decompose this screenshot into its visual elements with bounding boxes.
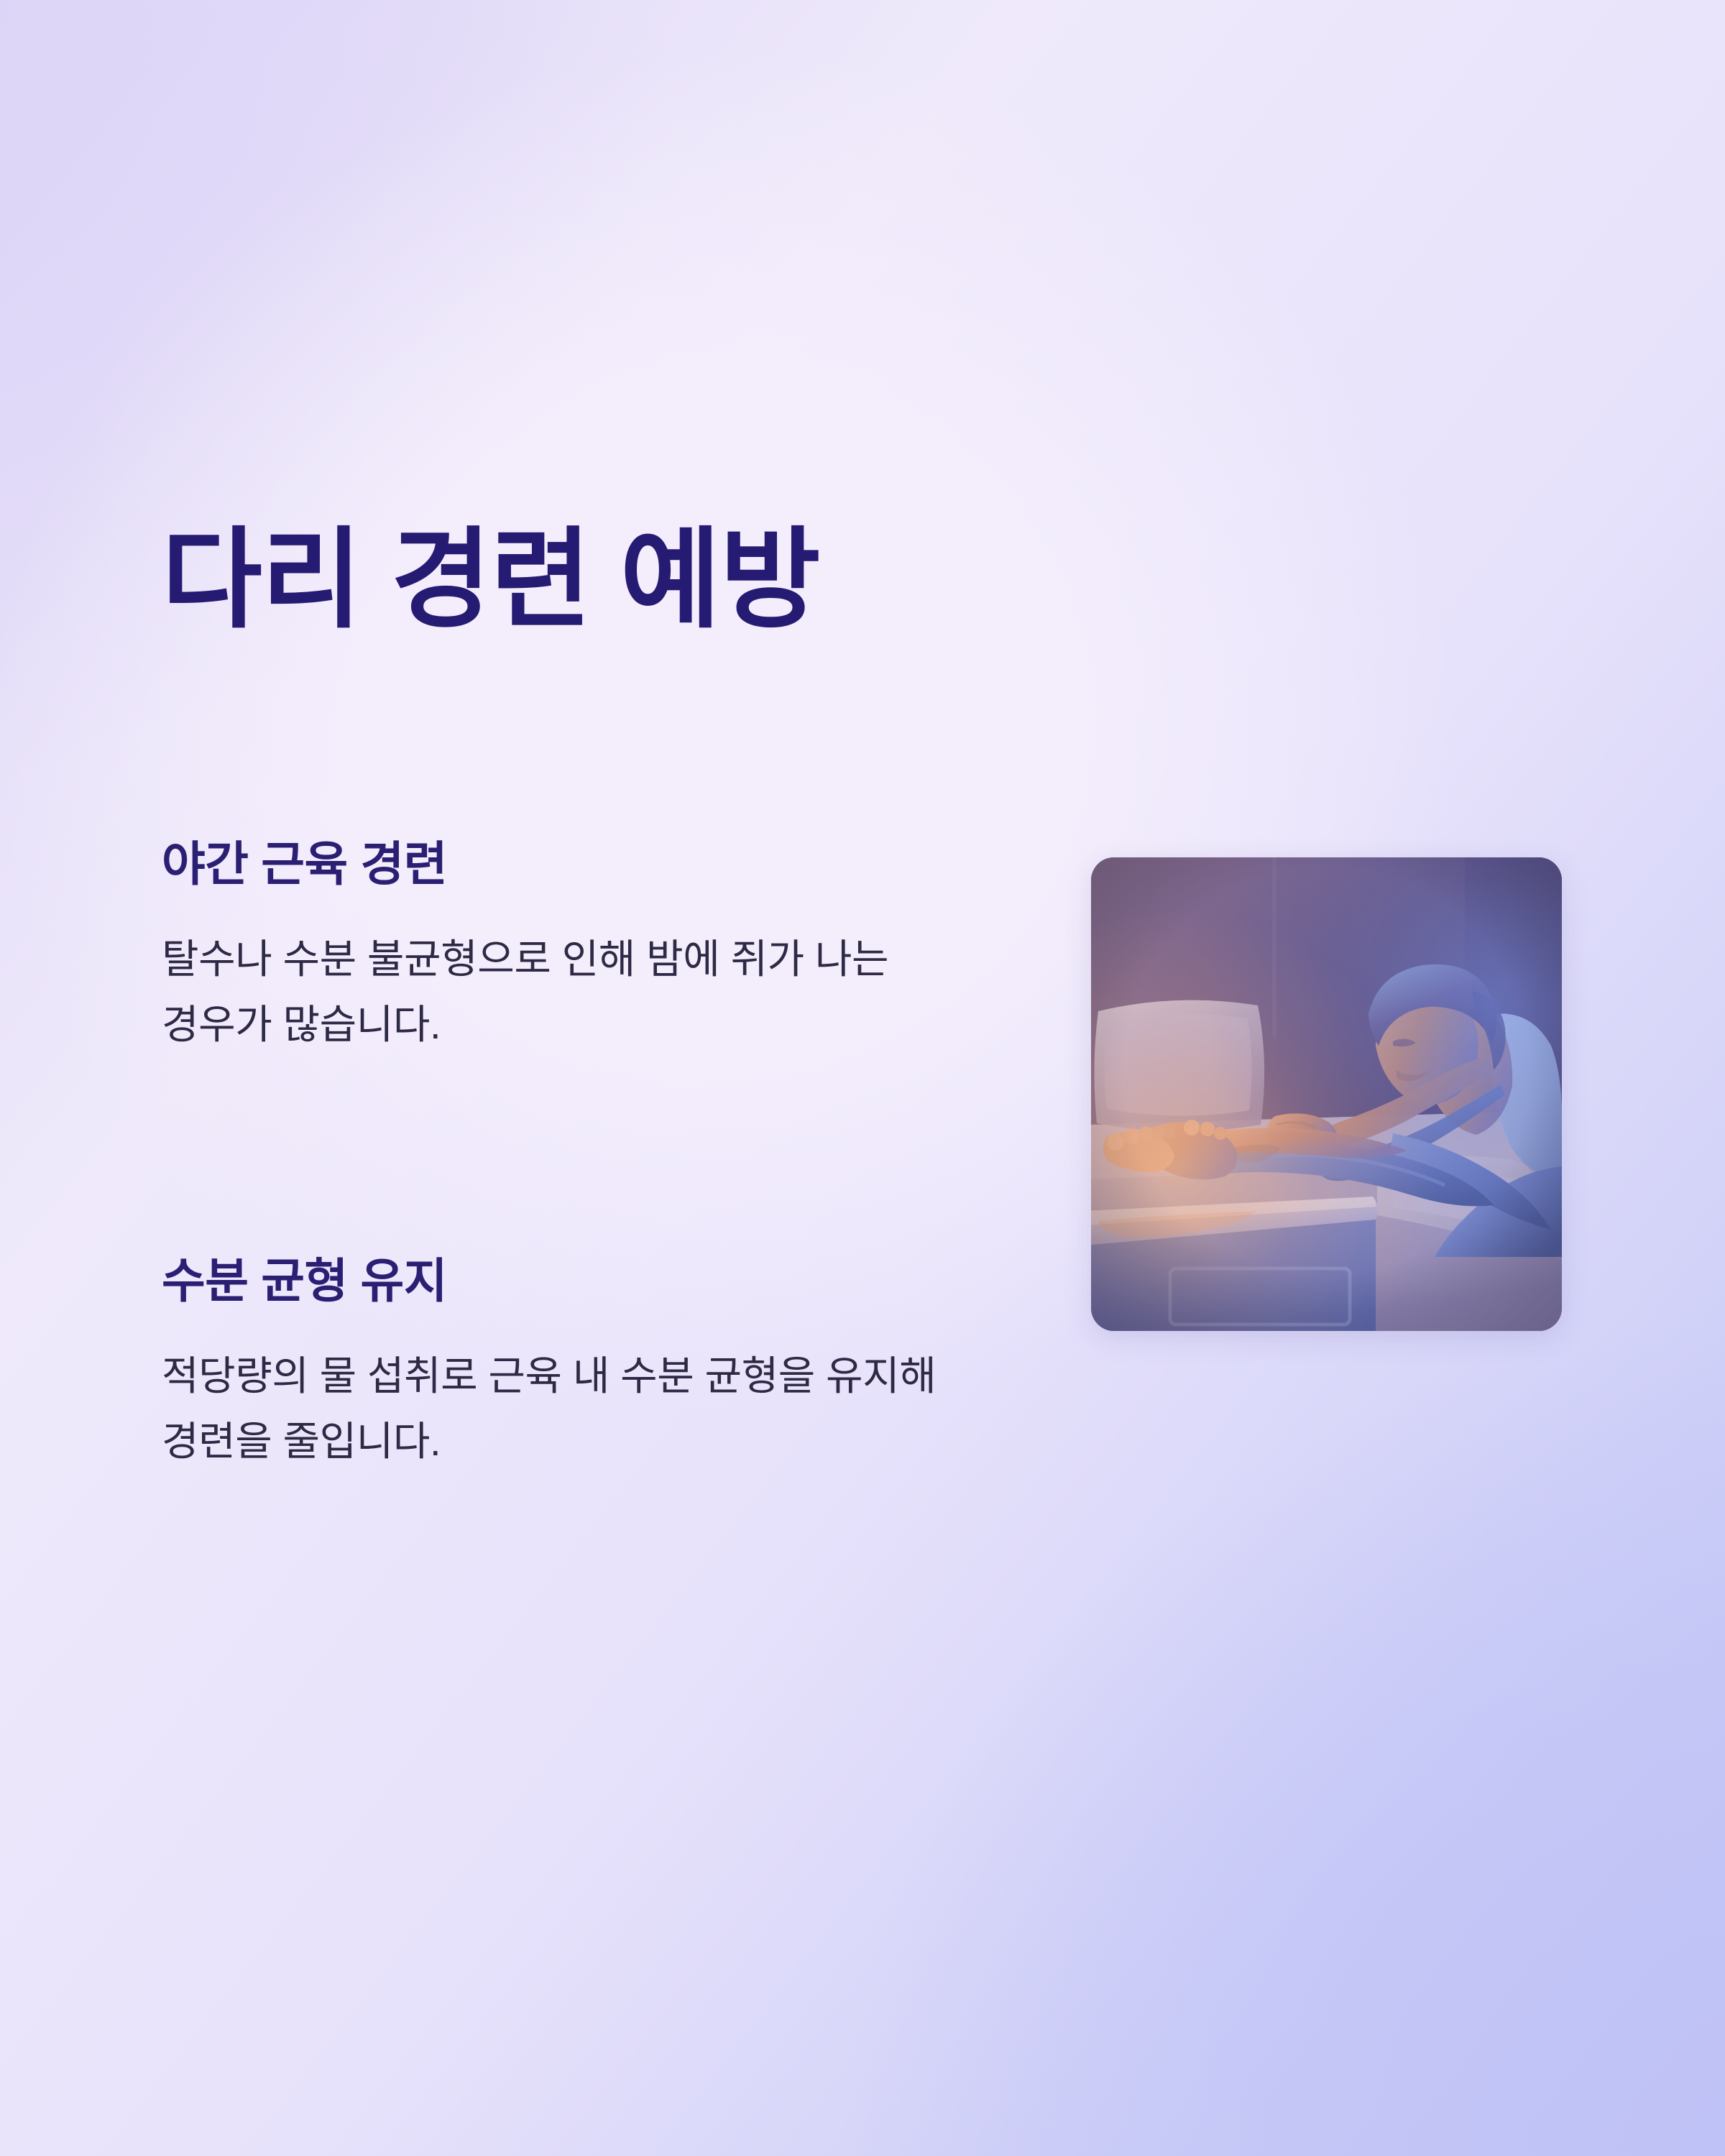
section-heading: 야간 근육 경련 <box>162 834 1010 894</box>
section-heading: 수분 균형 유지 <box>162 1250 1010 1311</box>
photo-card <box>1091 857 1562 1331</box>
section-body: 적당량의 물 섭취로 근육 내 수분 균형을 유지해 경련을 줄입니다. <box>162 1344 967 1474</box>
bedroom-night-illustration <box>1091 857 1562 1331</box>
section-night-cramps: 야간 근육 경련 탈수나 수분 불균형으로 인해 밤에 쥐가 나는 경우가 많습… <box>162 834 1010 1058</box>
poster-canvas: 다리 경련 예방 야간 근육 경련 탈수나 수분 불균형으로 인해 밤에 쥐가 … <box>0 0 1725 2156</box>
section-hydration: 수분 균형 유지 적당량의 물 섭취로 근육 내 수분 균형을 유지해 경련을 … <box>162 1250 1010 1475</box>
page-title: 다리 경련 예방 <box>162 516 820 645</box>
section-body: 탈수나 수분 불균형으로 인해 밤에 쥐가 나는 경우가 많습니다. <box>162 927 967 1057</box>
